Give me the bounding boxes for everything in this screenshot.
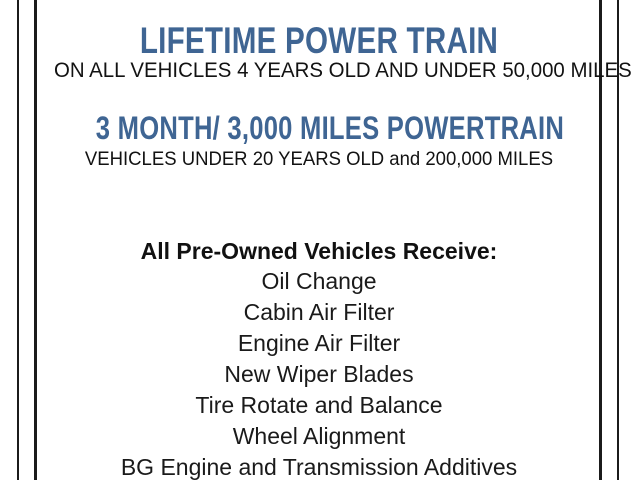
service-item: New Wiper Blades <box>40 359 598 390</box>
services-section-title: All Pre-Owned Vehicles Receive: <box>40 236 598 266</box>
service-item: Oil Change <box>40 266 598 297</box>
service-item: BG Engine and Transmission Additives <box>40 452 598 480</box>
lifetime-powertrain-subtitle: ON ALL VEHICLES 4 YEARS OLD AND UNDER 50… <box>54 60 584 82</box>
limited-powertrain-heading: 3 MONTH/ 3,000 MILES POWERTRAIN <box>96 112 542 144</box>
lifetime-powertrain-heading: LIFETIME POWER TRAIN <box>96 22 542 59</box>
frame-rule-left-inner <box>34 0 37 480</box>
services-section: All Pre-Owned Vehicles Receive: Oil Chan… <box>40 236 598 480</box>
service-item: Cabin Air Filter <box>40 297 598 328</box>
service-item: Wheel Alignment <box>40 421 598 452</box>
service-item: Engine Air Filter <box>40 328 598 359</box>
frame-rule-left-outer <box>17 0 19 480</box>
service-item: Tire Rotate and Balance <box>40 390 598 421</box>
dealership-warranty-poster: LIFETIME POWER TRAIN ON ALL VEHICLES 4 Y… <box>0 0 640 480</box>
poster-content: LIFETIME POWER TRAIN ON ALL VEHICLES 4 Y… <box>40 0 598 480</box>
limited-powertrain-subtitle: VEHICLES UNDER 20 YEARS OLD and 200,000 … <box>54 150 584 170</box>
